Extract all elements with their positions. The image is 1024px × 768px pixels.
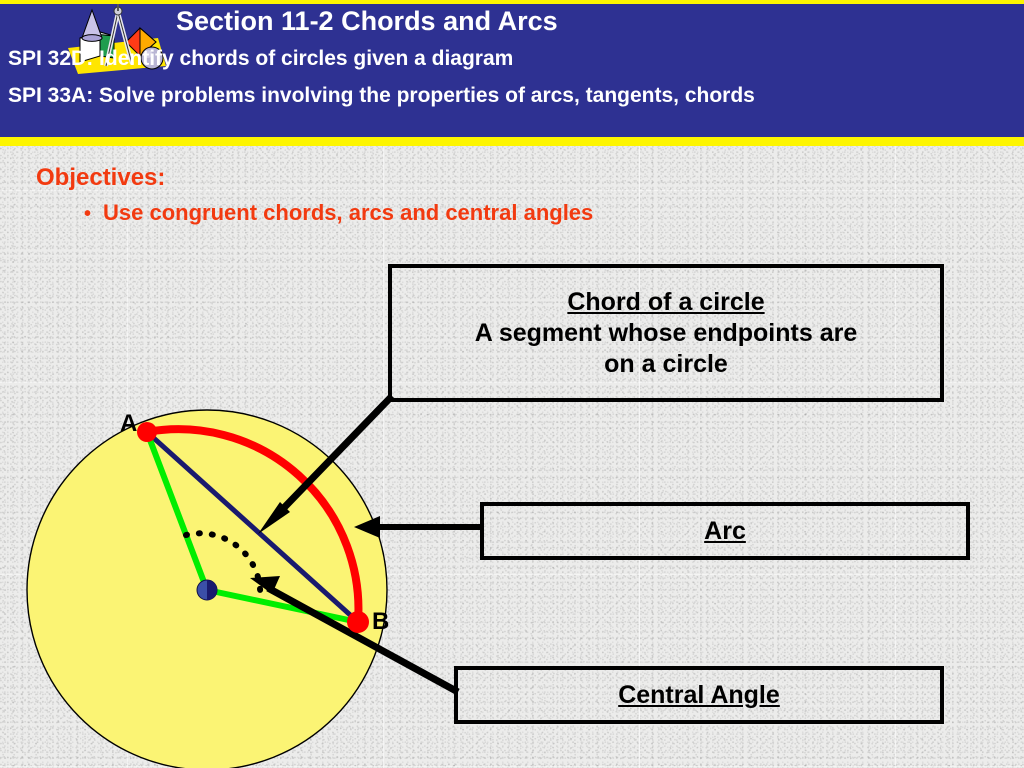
- standard-line-2: SPI 33A: Solve problems involving the pr…: [8, 81, 1008, 111]
- point-label-a: A: [120, 410, 137, 438]
- objective-item-label: Use congruent chords, arcs and central a…: [103, 200, 593, 226]
- callout-central-angle-title: Central Angle: [618, 680, 780, 711]
- standard-line-1: SPI 32D: Identify chords of circles give…: [8, 47, 513, 71]
- bullet-icon: •: [84, 203, 91, 226]
- slide-canvas: Section 11-2 Chords and Arcs SPI 32D: Id…: [0, 0, 1024, 768]
- point-A: [137, 422, 157, 442]
- pointer-arrow-arc: [354, 516, 482, 538]
- point-B: [347, 611, 369, 633]
- callout-arc-title: Arc: [704, 516, 746, 547]
- point-label-b: B: [372, 608, 389, 636]
- title-banner: Section 11-2 Chords and Arcs SPI 32D: Id…: [0, 0, 1024, 146]
- objectives-heading: Objectives:: [36, 164, 165, 192]
- objective-item: • Use congruent chords, arcs and central…: [84, 200, 593, 226]
- page-title: Section 11-2 Chords and Arcs: [176, 6, 558, 37]
- callout-chord-title: Chord of a circle: [567, 287, 764, 318]
- circle-diagram: [0, 330, 560, 768]
- callout-chord-definition-line-2: on a circle: [604, 349, 728, 380]
- title-banner-inner: Section 11-2 Chords and Arcs SPI 32D: Id…: [0, 4, 1024, 137]
